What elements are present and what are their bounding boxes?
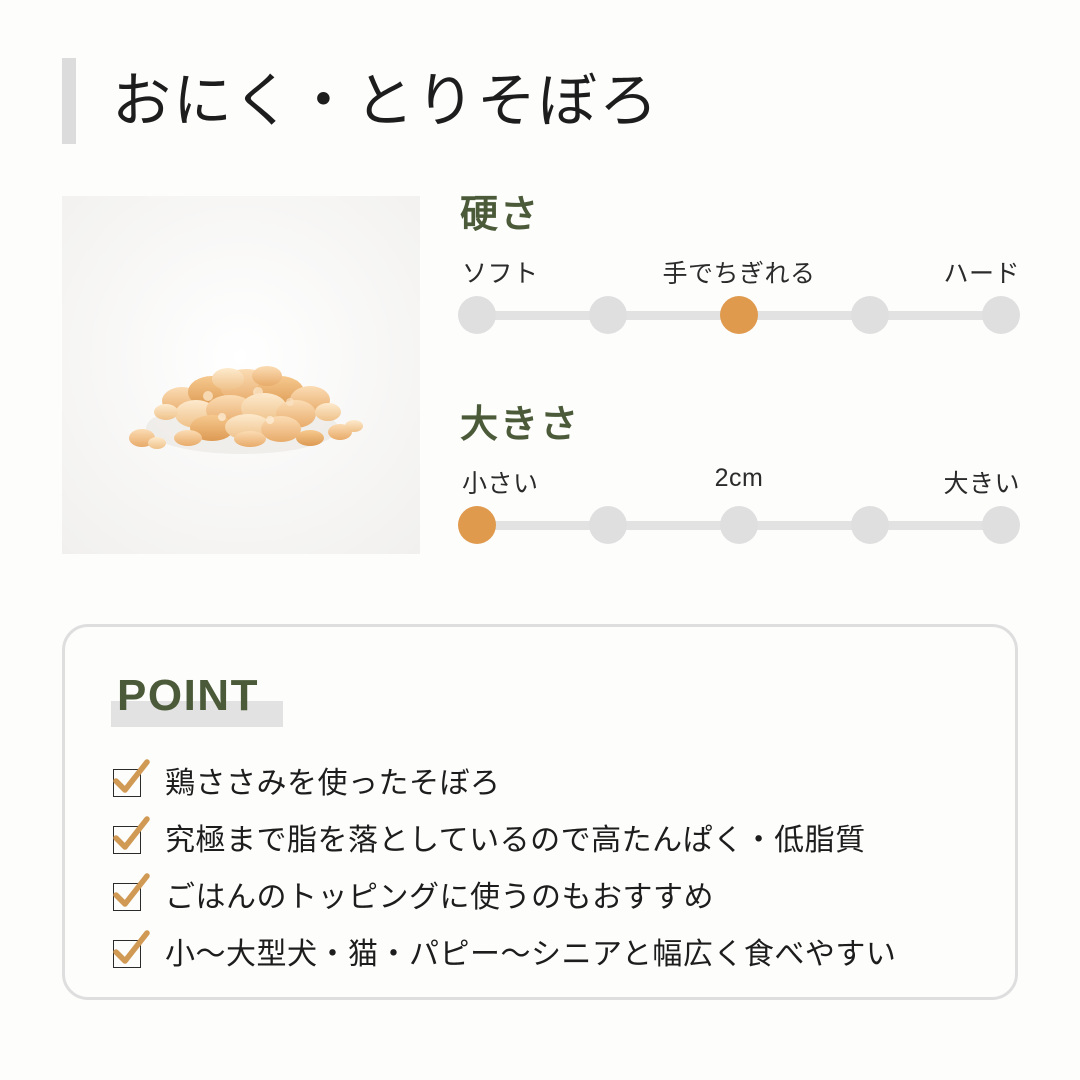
meter-hardness-dot-5[interactable] <box>982 296 1020 334</box>
meter-size-label-mid: 2cm <box>715 464 764 493</box>
checkbox-checked-icon <box>113 826 143 856</box>
meter-hardness-track[interactable] <box>458 296 1020 334</box>
checkbox-checked-icon <box>113 940 143 970</box>
point-item-label: 小〜大型犬・猫・パピー〜シニアと幅広く食べやすい <box>165 940 896 970</box>
point-item: 小〜大型犬・猫・パピー〜シニアと幅広く食べやすい <box>113 926 985 983</box>
point-item: ごはんのトッピングに使うのもおすすめ <box>113 869 985 926</box>
point-list: 鶏ささみを使ったそぼろ究極まで脂を落としているので高たんぱく・低脂質ごはんのトッ… <box>113 755 985 983</box>
point-title-wrap: POINT <box>117 671 259 727</box>
point-card: POINT 鶏ささみを使ったそぼろ究極まで脂を落としているので高たんぱく・低脂質… <box>62 624 1018 1000</box>
meter-size-labels: 小さい 2cm 大きい <box>458 464 1020 494</box>
checkbox-checked-icon <box>113 769 143 799</box>
meter-size-dot-1[interactable] <box>458 506 496 544</box>
meter-hardness: 硬さ ソフト 手でちぎれる ハード <box>458 196 1020 334</box>
meter-size-dot-4[interactable] <box>851 506 889 544</box>
meter-hardness-label-left: ソフト <box>462 254 539 290</box>
page-title: おにく・とりそぼろ <box>62 58 660 144</box>
point-item-label: 鶏ささみを使ったそぼろ <box>165 769 501 799</box>
meter-size: 大きさ 小さい 2cm 大きい <box>458 406 1020 544</box>
point-item-label: 究極まで脂を落としているので高たんぱく・低脂質 <box>165 826 866 856</box>
point-item: 究極まで脂を落としているので高たんぱく・低脂質 <box>113 812 985 869</box>
meter-size-label-right: 大きい <box>943 464 1020 500</box>
product-photo-image <box>62 196 420 554</box>
meter-hardness-dot-3[interactable] <box>720 296 758 334</box>
meter-size-track[interactable] <box>458 506 1020 544</box>
meter-hardness-dots <box>458 296 1020 334</box>
meter-size-dot-3[interactable] <box>720 506 758 544</box>
title-accent-bar <box>62 58 76 144</box>
meter-hardness-dot-2[interactable] <box>589 296 627 334</box>
meter-hardness-label-right: ハード <box>943 254 1020 290</box>
point-item: 鶏ささみを使ったそぼろ <box>113 755 985 812</box>
point-item-label: ごはんのトッピングに使うのもおすすめ <box>165 883 714 913</box>
point-title: POINT <box>117 671 259 722</box>
meter-size-label-left: 小さい <box>462 464 539 500</box>
meter-size-heading: 大きさ <box>460 406 1020 446</box>
page-title-text: おにく・とりそぼろ <box>112 72 660 131</box>
meter-hardness-dot-4[interactable] <box>851 296 889 334</box>
meter-size-dots <box>458 506 1020 544</box>
meter-hardness-dot-1[interactable] <box>458 296 496 334</box>
meter-hardness-labels: ソフト 手でちぎれる ハード <box>458 254 1020 284</box>
product-photo <box>62 196 420 554</box>
meter-hardness-label-mid: 手でちぎれる <box>662 254 815 290</box>
meter-hardness-heading: 硬さ <box>460 196 1020 236</box>
meter-size-dot-2[interactable] <box>589 506 627 544</box>
meter-size-dot-5[interactable] <box>982 506 1020 544</box>
checkbox-checked-icon <box>113 883 143 913</box>
